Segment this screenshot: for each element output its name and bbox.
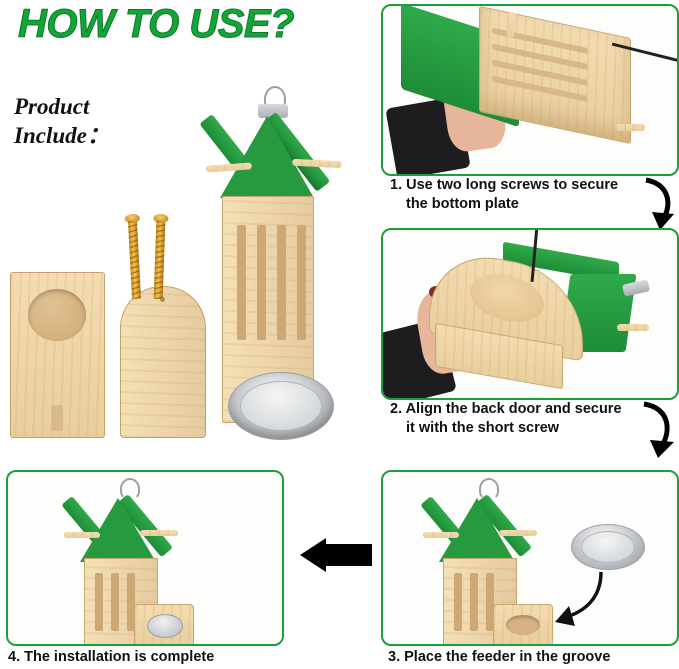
arrow-step3-to-step4-icon <box>300 538 372 572</box>
arrow-step2-to-step3-icon <box>640 400 678 460</box>
step-1-caption-line2: the bottom plate <box>406 195 670 214</box>
step-2-caption-line2: it with the short screw <box>406 419 670 438</box>
product-include-line1: Product <box>14 92 110 121</box>
perch-peg <box>617 324 649 331</box>
part-back-plate-with-hole <box>10 272 105 438</box>
perch-right <box>499 530 537 536</box>
part-arched-door-panel <box>120 286 206 438</box>
vent-slot-1 <box>454 573 462 631</box>
vent-slot-2 <box>111 573 119 631</box>
step-3-caption: 3. Place the feeder in the groove <box>388 648 678 667</box>
metal-feeder-dish <box>571 524 645 570</box>
arrow-place-feeder-icon <box>543 568 613 630</box>
step-4-caption: 4. The installation is complete <box>8 648 288 667</box>
feeder-groove-shelf <box>134 604 194 646</box>
screw-thread <box>128 221 141 299</box>
step-2-caption: 2. Align the back door and secure it wit… <box>390 400 670 438</box>
installed-feeder-dish <box>147 614 183 638</box>
vent-slot-1 <box>95 573 103 631</box>
roof-gable-face <box>220 116 314 198</box>
poster-root: HOW TO USE? Product Include： <box>0 0 679 669</box>
groove-recess <box>506 615 540 635</box>
perch-left <box>64 532 100 538</box>
product-include-label: Product Include： <box>14 92 110 150</box>
perch-right <box>140 530 178 536</box>
long-screw-1 <box>128 221 141 299</box>
perch-left <box>423 532 459 538</box>
product-include-line2: Include： <box>14 121 110 150</box>
vent-slot-2 <box>470 573 478 631</box>
vent-slot-3 <box>277 225 286 340</box>
step-1-image-panel <box>381 4 679 176</box>
entrance-hole <box>28 289 86 341</box>
vent-slot-1 <box>237 225 246 340</box>
step-2-caption-line1: 2. Align the back door and secure <box>390 400 670 419</box>
step-1-caption-line1: 1. Use two long screws to secure <box>390 176 670 195</box>
feeder-dish-inner <box>581 531 635 563</box>
vent-slot-2 <box>257 225 266 340</box>
feeder-dish-inner <box>240 381 322 431</box>
page-title: HOW TO USE? <box>18 2 294 47</box>
perch-peg <box>615 124 645 131</box>
step-1-caption: 1. Use two long screws to secure the bot… <box>390 176 670 214</box>
metal-feeder-dish <box>228 372 334 440</box>
step-2-image-panel <box>381 228 679 400</box>
vent-slot-4 <box>297 225 306 340</box>
bottom-slot <box>51 405 63 431</box>
arrow-step1-to-step2-icon <box>642 176 678 232</box>
step-3-image-panel <box>381 470 679 646</box>
step-4-image-panel <box>6 470 284 646</box>
